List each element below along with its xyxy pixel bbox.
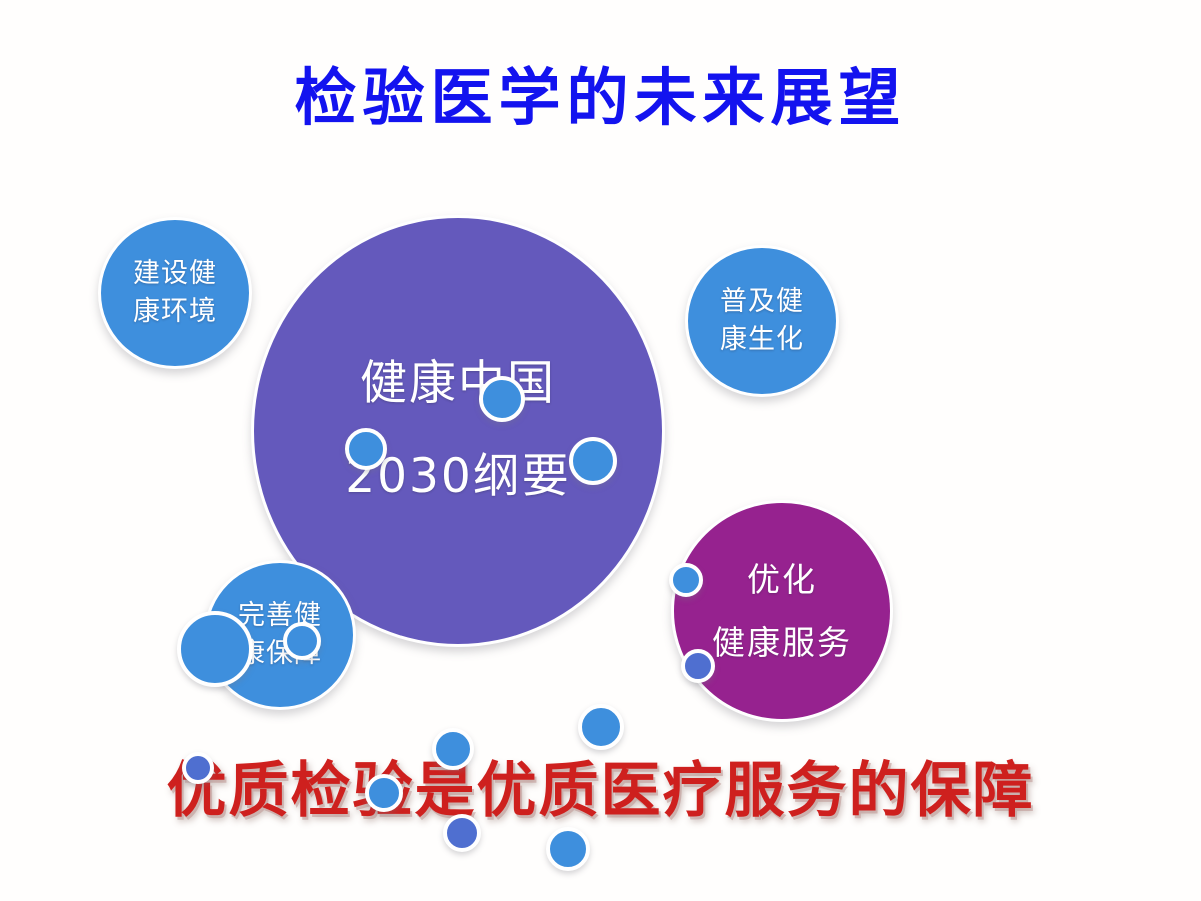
bubble-popularize-health-biochem[interactable]: 普及健 康生化 — [685, 245, 839, 397]
bubble-diagram: 健康中国 2030纲要 建设健 康环境 普及健 康生化 完善健 康保障 优化 健… — [0, 170, 1201, 750]
bubble-build-health-environment[interactable]: 建设健 康环境 — [98, 217, 252, 369]
bubble-env-line-2: 康环境 — [133, 293, 217, 331]
bubble-serv-line-2: 健康服务 — [712, 618, 852, 668]
dot-upper-right-core-icon — [569, 437, 617, 485]
bubble-env-line-1: 建设健 — [133, 255, 217, 293]
bubble-core-line-1: 健康中国 — [360, 353, 556, 416]
footer-headline: 优质检验是优质医疗服务的保障 — [0, 758, 1201, 824]
dot-top-core-icon — [479, 376, 525, 422]
dot-lower-left-small-icon — [182, 752, 214, 784]
bubble-edu-line-2: 康生化 — [720, 321, 804, 359]
dot-upper-left-core-icon — [345, 428, 387, 470]
slide-canvas: 检验医学的未来展望 健康中国 2030纲要 建设健 康环境 普及健 康生化 完善… — [0, 0, 1201, 901]
dot-bottom-mid-icon — [443, 814, 481, 852]
bubble-optimize-health-service[interactable]: 优化 健康服务 — [671, 500, 893, 722]
dot-core-2030-icon — [283, 622, 321, 660]
dot-bottom-right-icon — [546, 827, 590, 871]
page-title: 检验医学的未来展望 — [0, 62, 1201, 133]
dot-right-upper-icon — [669, 563, 703, 597]
dot-core-right-low-icon — [578, 704, 624, 750]
bubble-edu-line-1: 普及健 — [720, 283, 804, 321]
dot-edge-left-low-icon — [365, 774, 403, 812]
dot-left-large-icon — [177, 611, 253, 687]
dot-right-lower-icon — [681, 649, 715, 683]
dot-core-bottom-icon — [432, 728, 474, 770]
bubble-serv-line-1: 优化 — [747, 555, 817, 605]
